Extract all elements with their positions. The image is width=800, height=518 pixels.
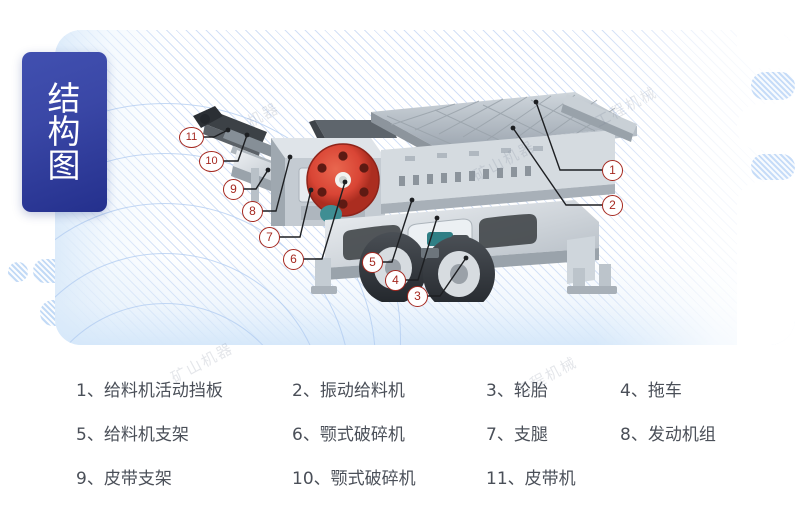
callout-marker-2[interactable]: 2 [602,195,623,216]
legend-row: 5、给料机支架 6、颚式破碎机 7、支腿 8、发动机组 [0,414,800,456]
legend-item-11: 11、皮带机 [486,458,576,500]
callout-marker-4[interactable]: 4 [385,270,406,291]
legend-item-4: 4、拖车 [620,370,682,412]
legend-item-6: 6、颚式破碎机 [292,414,405,456]
decorative-pill-small [8,262,28,282]
callout-marker-5[interactable]: 5 [362,252,383,273]
card-notch-middle [737,104,795,150]
legend-row: 9、皮带支架 10、颚式破碎机 11、皮带机 [0,458,800,500]
legend-item-5: 5、给料机支架 [76,414,189,456]
parts-legend: 1、给料机活动挡板 2、振动给料机 3、轮胎 4、拖车 5、给料机支架 6、颚式… [0,362,800,518]
structure-diagram-title-plate: 结 构 图 [22,52,107,212]
legend-item-9: 9、皮带支架 [76,458,172,500]
legend-item-7: 7、支腿 [486,414,548,456]
card-notch-bottom [737,182,795,345]
callout-marker-10[interactable]: 10 [199,151,224,172]
mobile-crusher-illustration [175,72,645,302]
card-notch-top [737,30,795,68]
title-char-1: 结 [48,82,82,116]
legend-item-8: 8、发动机组 [620,414,716,456]
callout-marker-8[interactable]: 8 [242,201,263,222]
title-char-3: 图 [48,149,82,183]
legend-item-10: 10、颚式破碎机 [292,458,416,500]
legend-item-1: 1、给料机活动挡板 [76,370,223,412]
callout-marker-1[interactable]: 1 [602,160,623,181]
legend-row: 1、给料机活动挡板 2、振动给料机 3、轮胎 4、拖车 [0,370,800,412]
callout-marker-9[interactable]: 9 [223,179,244,200]
title-char-2: 构 [48,115,82,149]
callout-marker-3[interactable]: 3 [407,286,428,307]
callout-marker-7[interactable]: 7 [259,227,280,248]
callout-marker-6[interactable]: 6 [283,249,304,270]
card-tab-lower [751,154,795,180]
legend-item-2: 2、振动给料机 [292,370,405,412]
callout-marker-11[interactable]: 11 [179,127,204,148]
card-tab-upper [751,72,795,100]
